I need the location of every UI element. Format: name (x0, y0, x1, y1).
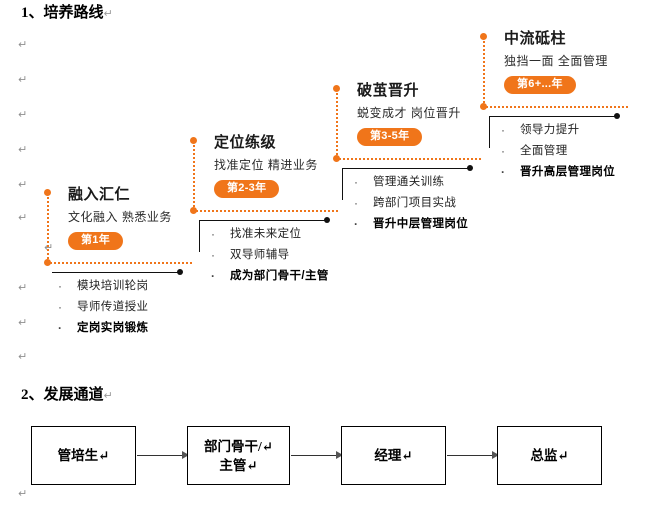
stage-1-node-bottom (44, 259, 51, 266)
document-canvas: 1、培养路线↵ ↵ ↵ ↵ ↵ ↵ ↵ ↵ ↵ ↵ ↵ ↵ 融入汇仁 文化融入 … (0, 0, 659, 513)
list-item-label: 定岗实岗锻炼 (77, 322, 148, 334)
stage-3-frame-vertical (336, 89, 338, 159)
stage-1-title: 融入汇仁 (68, 186, 218, 204)
list-item-label: 双导师辅导 (230, 249, 290, 261)
pilcrow-mark: ↵ (104, 8, 113, 20)
bullet-icon: · (58, 276, 62, 297)
stage-4-frame-vertical (483, 37, 485, 107)
bullet-icon: · (354, 193, 358, 214)
bullet-icon: · (501, 141, 505, 162)
flow-node-4[interactable]: 总监↵ (497, 426, 602, 485)
stage-3-badge: 第3-5年 (357, 128, 422, 146)
stage-2-connector-line (199, 220, 327, 221)
pilcrow-mark: ↵ (104, 390, 113, 402)
stage-2-bracket-vertical (199, 220, 200, 252)
bullet-icon: · (211, 266, 215, 287)
flow-node-1-label: 管培生↵ (58, 446, 110, 465)
margin-return-mark-5: ↵ (18, 180, 27, 191)
stage-1-bullets: ·模块培训轮岗 ·导师传道授业 ·定岗实岗锻炼 (52, 276, 148, 339)
stage-2-frame-vertical (193, 141, 195, 211)
list-item: ·跨部门项目实战 (348, 193, 468, 214)
stage-1-badge: 第1年 (68, 232, 123, 250)
margin-return-mark-11: ↵ (18, 489, 27, 500)
flow-arrow-2-line (291, 455, 338, 456)
list-item-label: 领导力提升 (520, 124, 580, 136)
stage-4-connector-line (489, 116, 617, 117)
list-item: ·导师传道授业 (52, 297, 148, 318)
flow-node-3[interactable]: 经理↵ (341, 426, 446, 485)
flow-node-3-label: 经理↵ (374, 446, 412, 465)
list-item-label: 跨部门项目实战 (373, 197, 456, 209)
stage-4-header: 中流砥柱 独挡一面 全面管理 第6+...年 (490, 30, 659, 94)
bullet-icon: · (58, 297, 62, 318)
stage-1-node-top (44, 189, 51, 196)
flow-arrow-3-line (447, 455, 494, 456)
stage-2-connector-dot (324, 217, 330, 223)
list-item-label: 晋升中层管理岗位 (373, 218, 468, 230)
stage-3-bullets: ·管理通关训练 ·跨部门项目实战 ·晋升中层管理岗位 (348, 172, 468, 235)
margin-return-mark-8: ↵ (18, 283, 27, 294)
list-item-label: 管理通关训练 (373, 176, 444, 188)
stage-3-connector-dot (467, 165, 473, 171)
list-item-label: 找准未来定位 (230, 228, 301, 240)
list-item: ·定岗实岗锻炼 (52, 318, 148, 339)
flow-arrow-1-line (137, 455, 184, 456)
margin-return-mark-9: ↵ (18, 318, 27, 329)
stage-3-connector-line (342, 168, 470, 169)
stage-4-title: 中流砥柱 (504, 30, 659, 48)
margin-return-mark-4: ↵ (18, 145, 27, 156)
section-1-title-text: 1、培养路线 (21, 5, 104, 21)
list-item: ·晋升高层管理岗位 (495, 162, 615, 183)
stage-3-header: 破茧晋升 蜕变成才 岗位晋升 第3-5年 (343, 82, 512, 146)
stage-3-frame-bottom (336, 158, 481, 160)
stage-3-node-bottom (333, 155, 340, 162)
list-item: ·领导力提升 (495, 120, 615, 141)
stage-4-connector-dot (614, 113, 620, 119)
stage-4-badge: 第6+...年 (504, 76, 576, 94)
bullet-icon: · (211, 224, 215, 245)
bullet-icon: · (354, 214, 358, 235)
list-item-label: 导师传道授业 (77, 301, 148, 313)
stage-2-node-top (190, 137, 197, 144)
margin-return-mark-6: ↵ (18, 213, 27, 224)
stage-2-node-bottom (190, 207, 197, 214)
bullet-icon: · (501, 120, 505, 141)
flow-node-2-label: 部门骨干/↵ 主管↵ (204, 437, 273, 475)
stage-4-frame-bottom (483, 106, 628, 108)
bullet-icon: · (501, 162, 505, 183)
list-item: ·全面管理 (495, 141, 615, 162)
stage-2-header: 定位练级 找准定位 精进业务 第2-3年 (200, 134, 364, 198)
list-item-label: 成为部门骨干/主管 (230, 270, 329, 282)
margin-return-mark-3: ↵ (18, 110, 27, 121)
flow-node-4-label: 总监↵ (530, 446, 568, 465)
list-item: ·模块培训轮岗 (52, 276, 148, 297)
list-item: ·晋升中层管理岗位 (348, 214, 468, 235)
stage-1-frame-bottom (47, 262, 192, 264)
section-2-title-text: 2、发展通道 (21, 387, 104, 403)
stage-1-connector-line (52, 272, 180, 273)
margin-return-mark-2: ↵ (18, 75, 27, 86)
stage-3-title: 破茧晋升 (357, 82, 512, 100)
stage-1-connector-dot (177, 269, 183, 275)
flow-node-1[interactable]: 管培生↵ (31, 426, 136, 485)
list-item-label: 晋升高层管理岗位 (520, 166, 615, 178)
list-item-label: 全面管理 (520, 145, 568, 157)
section-1-title: 1、培养路线↵ (21, 1, 113, 22)
stage-4-node-top (480, 33, 487, 40)
list-item: ·找准未来定位 (205, 224, 329, 245)
section-2-title: 2、发展通道↵ (21, 383, 113, 404)
stage-3-node-top (333, 85, 340, 92)
list-item-label: 模块培训轮岗 (77, 280, 148, 292)
stage-2-frame-bottom (193, 210, 338, 212)
stage-4-subtitle: 独挡一面 全面管理 (504, 53, 659, 70)
margin-return-mark-10: ↵ (18, 352, 27, 363)
bullet-icon: · (211, 245, 215, 266)
stage-2-title: 定位练级 (214, 134, 364, 152)
stage-4-bracket-vertical (489, 116, 490, 148)
stage-4-bullets: ·领导力提升 ·全面管理 ·晋升高层管理岗位 (495, 120, 615, 183)
flow-node-2[interactable]: 部门骨干/↵ 主管↵ (187, 426, 290, 485)
stage-3-bracket-vertical (342, 168, 343, 200)
stage-1-frame-vertical (47, 193, 49, 263)
margin-return-mark-1: ↵ (18, 40, 27, 51)
list-item: ·成为部门骨干/主管 (205, 266, 329, 287)
list-item: ·管理通关训练 (348, 172, 468, 193)
list-item: ·双导师辅导 (205, 245, 329, 266)
stage-4-node-bottom (480, 103, 487, 110)
bullet-icon: · (58, 318, 62, 339)
stage-2-badge: 第2-3年 (214, 180, 279, 198)
bullet-icon: · (354, 172, 358, 193)
stage-2-bullets: ·找准未来定位 ·双导师辅导 ·成为部门骨干/主管 (205, 224, 329, 287)
